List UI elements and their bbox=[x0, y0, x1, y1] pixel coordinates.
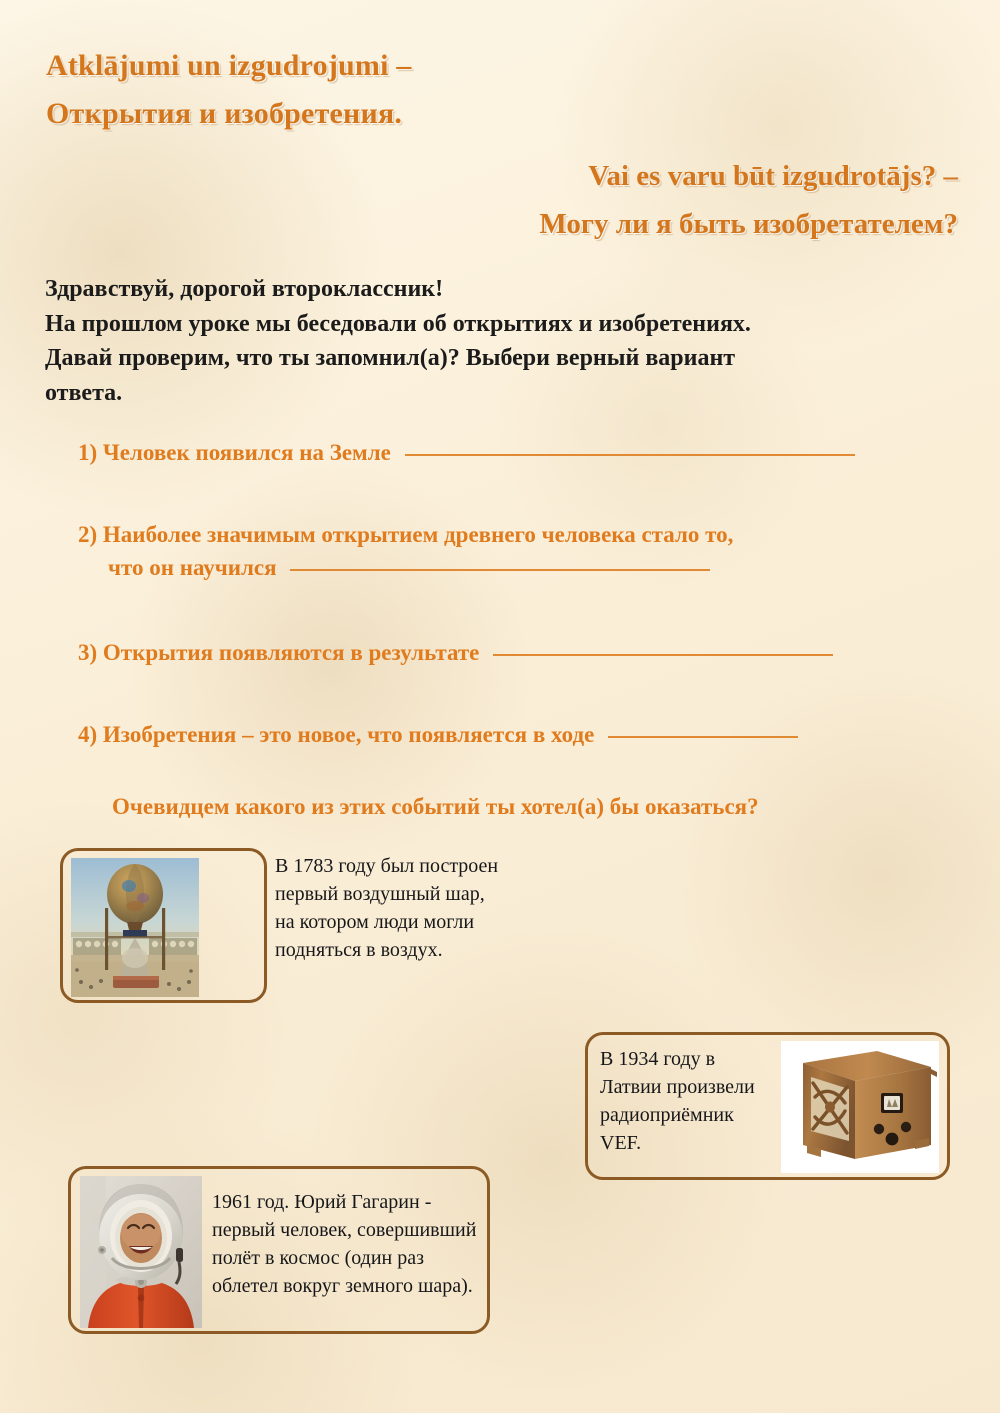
hot-air-balloon-engraving bbox=[71, 858, 199, 997]
intro-line-3: Давай проверим, что ты запомнил(а)? Выбе… bbox=[45, 341, 945, 376]
intro-line-1: Здравствуй, дорогой второклассник! bbox=[45, 272, 945, 307]
question-number-3: 3) bbox=[78, 640, 97, 665]
question-item-1: 1) Человек появился на Земле bbox=[78, 436, 968, 469]
question-text-3: Открытия появляются в результате bbox=[103, 640, 479, 665]
question-text-2-cont-row: что он научился bbox=[108, 551, 968, 584]
subtitle-line-lv: Vai es varu būt izgudrotājs? – bbox=[338, 152, 958, 200]
page-subtitle: Vai es varu būt izgudrotājs? – Могу ли я… bbox=[338, 152, 958, 248]
title-line-ru: Открытия и изобретения. bbox=[46, 90, 706, 138]
worksheet-page: Atklājumi un izgudrojumi – Открытия и из… bbox=[0, 0, 1000, 1413]
intro-line-4: ответа. bbox=[45, 376, 945, 411]
question-item-3: 3) Открытия появляются в результате bbox=[78, 636, 968, 669]
event-card-gagarin-caption: 1961 год. Юрий Гагарин - первый человек,… bbox=[202, 1176, 480, 1300]
title-line-lv: Atklājumi un izgudrojumi – bbox=[46, 42, 706, 90]
subtitle-line-ru: Могу ли я быть изобретателем? bbox=[338, 200, 958, 248]
answer-blank-1[interactable] bbox=[405, 454, 855, 456]
question-text-1: Человек появился на Земле bbox=[103, 440, 391, 465]
event-card-gagarin[interactable]: 1961 год. Юрий Гагарин - первый человек,… bbox=[68, 1166, 490, 1334]
question-number-4: 4) bbox=[78, 722, 97, 747]
answer-blank-2[interactable] bbox=[290, 569, 710, 571]
question-text-2: Наиболее значимым открытием древнего чел… bbox=[103, 522, 733, 547]
event-card-balloon[interactable] bbox=[60, 848, 267, 1003]
page-title: Atklājumi un izgudrojumi – Открытия и из… bbox=[46, 42, 706, 138]
question-item-2: 2) Наиболее значимым открытием древнего … bbox=[78, 518, 968, 584]
question-item-4: 4) Изобретения – это новое, что появляет… bbox=[78, 718, 968, 751]
event-card-radio[interactable]: В 1934 году в Латвии произвели радиоприё… bbox=[585, 1032, 950, 1180]
intro-line-2: На прошлом уроке мы беседовали об открыт… bbox=[45, 307, 945, 342]
question-text-4: Изобретения – это новое, что появляется … bbox=[103, 722, 594, 747]
vef-wooden-radio-receiver bbox=[781, 1041, 939, 1173]
answer-blank-3[interactable] bbox=[493, 654, 833, 656]
answer-blank-4[interactable] bbox=[608, 736, 798, 738]
question-number-1: 1) bbox=[78, 440, 97, 465]
events-prompt: Очевидцем какого из этих событий ты хоте… bbox=[112, 790, 982, 823]
event-card-balloon-caption: В 1783 году был построен первый воздушны… bbox=[275, 852, 500, 964]
intro-paragraph: Здравствуй, дорогой второклассник! На пр… bbox=[45, 272, 945, 410]
question-text-2-cont: что он научился bbox=[108, 555, 277, 580]
yuri-gagarin-portrait bbox=[80, 1176, 202, 1328]
event-card-radio-caption: В 1934 году в Латвии произвели радиоприё… bbox=[600, 1041, 775, 1157]
question-number-2: 2) bbox=[78, 522, 97, 547]
